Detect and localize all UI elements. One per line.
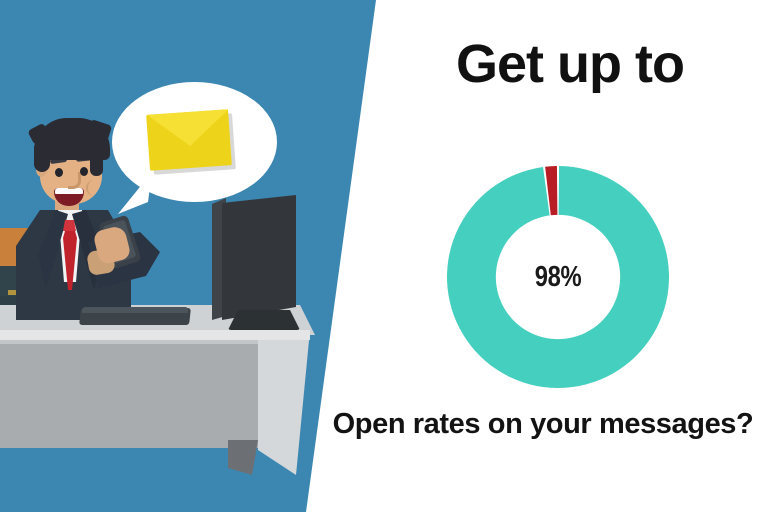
page-subtitle: Open rates on your messages? [318,408,768,441]
promo-slide: Get up to 98% Open rates on your message… [0,0,768,512]
necktie-knot [63,220,76,231]
keyboard-top-face [82,307,189,313]
character-cheek-line [86,180,98,196]
desk-front-panel [0,338,262,448]
donut-center-value: 98% [467,166,649,388]
page-title: Get up to [390,36,750,93]
desk-edge [0,330,310,340]
character-eye-left [55,168,63,177]
character-eye-right [80,167,88,176]
monitor-icon [216,195,296,320]
monitor-base [228,310,300,330]
donut-chart: 98% [447,166,669,388]
